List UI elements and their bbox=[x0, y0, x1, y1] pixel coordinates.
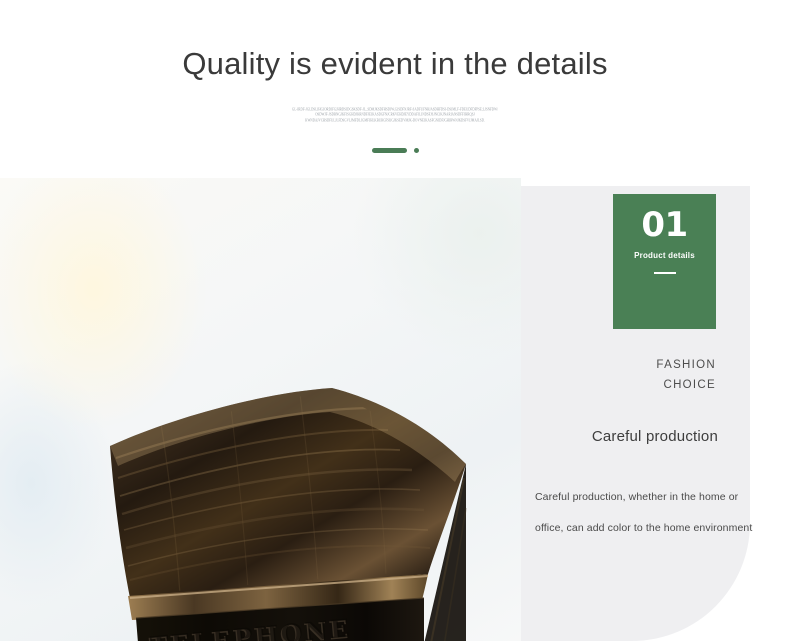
product-detail-page: Quality is evident in the details GL-IRD… bbox=[0, 0, 790, 641]
tagline: FASHION CHOICE bbox=[521, 356, 716, 396]
tagline-line-1: FASHION bbox=[521, 356, 716, 376]
product-info-panel: 01 Product details FASHION CHOICE Carefu… bbox=[521, 186, 750, 641]
tagline-line-2: CHOICE bbox=[521, 376, 716, 396]
badge-label: Product details bbox=[634, 251, 695, 260]
page-header: Quality is evident in the details GL-IRD… bbox=[0, 0, 790, 178]
badge-divider bbox=[654, 272, 676, 274]
pagination-dot[interactable] bbox=[414, 148, 419, 153]
telephone-booth-illustration: TELEPHONE TELEPHONE bbox=[0, 178, 521, 641]
subtitle-line-3: KWNDAJVCHSDFULJLFDSGVLJMFDLJGMFJHLKBURGF… bbox=[0, 117, 790, 125]
section-heading: Careful production bbox=[521, 428, 718, 445]
header-subtitle-block: GL-IRDF-JGLDSLJHGJORDJFGJHRDSJDGSKSDF-JL… bbox=[0, 106, 790, 122]
page-title: Quality is evident in the details bbox=[0, 46, 790, 82]
section-body-text: Careful production, whether in the home … bbox=[535, 482, 763, 543]
product-detail-badge: 01 Product details bbox=[613, 194, 716, 329]
carousel-pagination[interactable] bbox=[0, 148, 790, 153]
pagination-active-indicator[interactable] bbox=[372, 148, 407, 153]
product-photo: TELEPHONE TELEPHONE bbox=[0, 178, 521, 641]
badge-number: 01 bbox=[641, 208, 687, 242]
